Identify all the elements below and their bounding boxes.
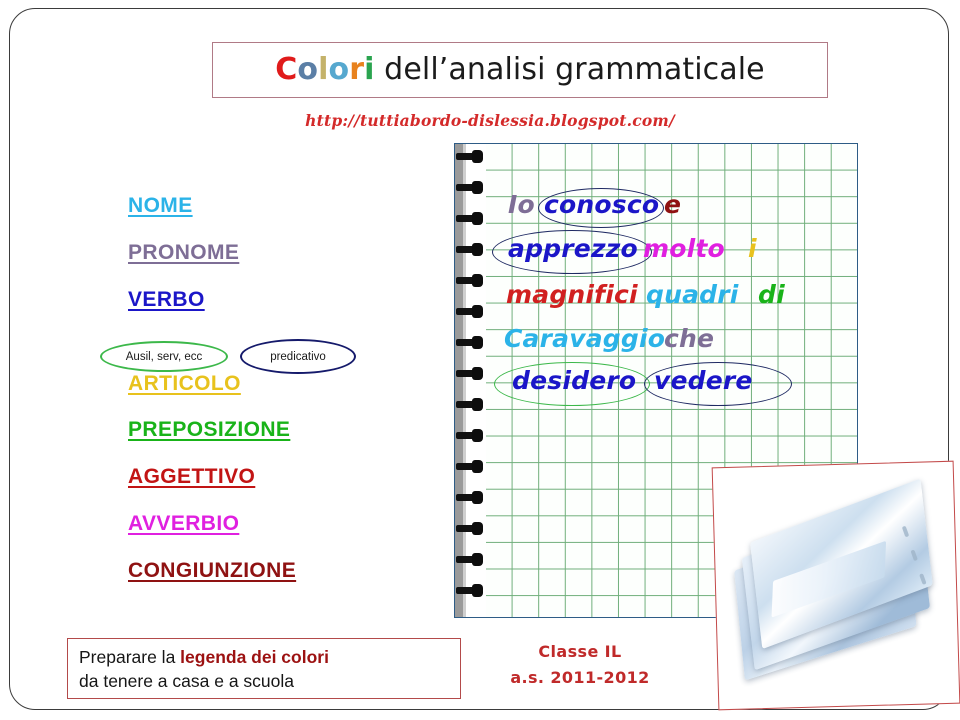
notebook-line-4: desiderovedere [486, 368, 857, 402]
notebook-line-0: Ioconoscoe [486, 192, 857, 226]
verb-subtype-predicativo: predicativo [240, 339, 356, 374]
spiral-ring [456, 336, 484, 349]
legend-item-aggettivo[interactable]: AGGETTIVO [128, 466, 428, 488]
instruction-prefix: Preparare la [79, 647, 180, 667]
notebook-word-quadri: quadri [646, 282, 739, 307]
spiral-ring [456, 429, 484, 442]
school-year-line: a.s. 2011-2012 [465, 665, 695, 691]
notebook-word-i: i [748, 236, 757, 261]
title-letter-4: r [349, 52, 364, 87]
spiral-ring [456, 305, 484, 318]
class-line: Classe IL [465, 639, 695, 665]
title-letter-3: o [329, 52, 350, 87]
notebook-word-io: Io [508, 192, 535, 217]
page-title-rest: dell’analisi grammaticale [375, 52, 765, 87]
notebook-word-magnifici: magnifici [506, 282, 638, 307]
spiral-ring [456, 150, 484, 163]
notebook-word-che: che [664, 326, 714, 351]
notebook-word-di: di [758, 282, 785, 307]
spiral-binding [455, 144, 486, 617]
title-letter-1: o [297, 52, 318, 87]
spiral-ring [456, 460, 484, 473]
legend-item-preposizione[interactable]: PREPOSIZIONE [128, 419, 428, 441]
title-box: Colori dell’analisi grammaticale [212, 42, 828, 98]
spiral-ring [456, 212, 484, 225]
sheet-protectors-photo [712, 461, 960, 711]
spiral-ring [456, 274, 484, 287]
verb-subtype-row: Ausil, serv, ecc predicativo [100, 339, 430, 379]
title-letter-2: l [318, 52, 328, 87]
instruction-note-box: Preparare la legenda dei colori da tener… [67, 638, 461, 699]
slide-frame: Colori dell’analisi grammaticale http://… [9, 8, 949, 710]
notebook-word-desidero: desidero [512, 368, 636, 393]
notebook-word-caravaggio: Caravaggio [504, 326, 665, 351]
spiral-ring [456, 243, 484, 256]
photo-inner [714, 463, 959, 709]
verb-subtype-ausiliari: Ausil, serv, ecc [100, 341, 228, 372]
page-title-colored-word: Colori [275, 52, 374, 87]
legend-item-verbo[interactable]: VERBO [128, 289, 428, 311]
page-title: Colori dell’analisi grammaticale [275, 55, 764, 85]
notebook-word-e: e [664, 192, 681, 217]
notebook-word-conosco: conosco [544, 192, 659, 217]
notebook-line-3: Caravaggioche [486, 326, 857, 360]
legend-item-avverbio[interactable]: AVVERBIO [128, 513, 428, 535]
legend-item-nome[interactable]: NOME [128, 195, 428, 217]
spiral-ring [456, 491, 484, 504]
spiral-ring [456, 553, 484, 566]
instruction-line-2: da tenere a casa e a scuola [79, 670, 460, 694]
spiral-ring [456, 522, 484, 535]
legend-item-congiunzione[interactable]: CONGIUNZIONE [128, 560, 428, 582]
notebook-word-vedere: vedere [654, 368, 753, 393]
spiral-ring [456, 367, 484, 380]
class-caption: Classe IL a.s. 2011-2012 [465, 639, 695, 690]
instruction-line-1: Preparare la legenda dei colori [79, 646, 460, 670]
notebook-word-molto: molto [643, 236, 725, 261]
notebook-word-apprezzo: apprezzo [508, 236, 638, 261]
color-legend-list: NOMEPRONOMEVERBOARTICOLOPREPOSIZIONEAGGE… [128, 195, 428, 607]
blog-url[interactable]: http://tuttiabordo-dislessia.blogspot.co… [10, 111, 960, 130]
notebook-line-2: magnificiquadridi [486, 282, 857, 316]
title-letter-0: C [275, 52, 297, 87]
instruction-highlight: legenda dei colori [180, 647, 329, 667]
notebook-line-1: apprezzomoltoi [486, 236, 857, 270]
spiral-ring [456, 181, 484, 194]
spiral-ring [456, 584, 484, 597]
title-letter-5: i [364, 52, 374, 87]
legend-item-pronome[interactable]: PRONOME [128, 242, 428, 264]
spiral-ring [456, 398, 484, 411]
